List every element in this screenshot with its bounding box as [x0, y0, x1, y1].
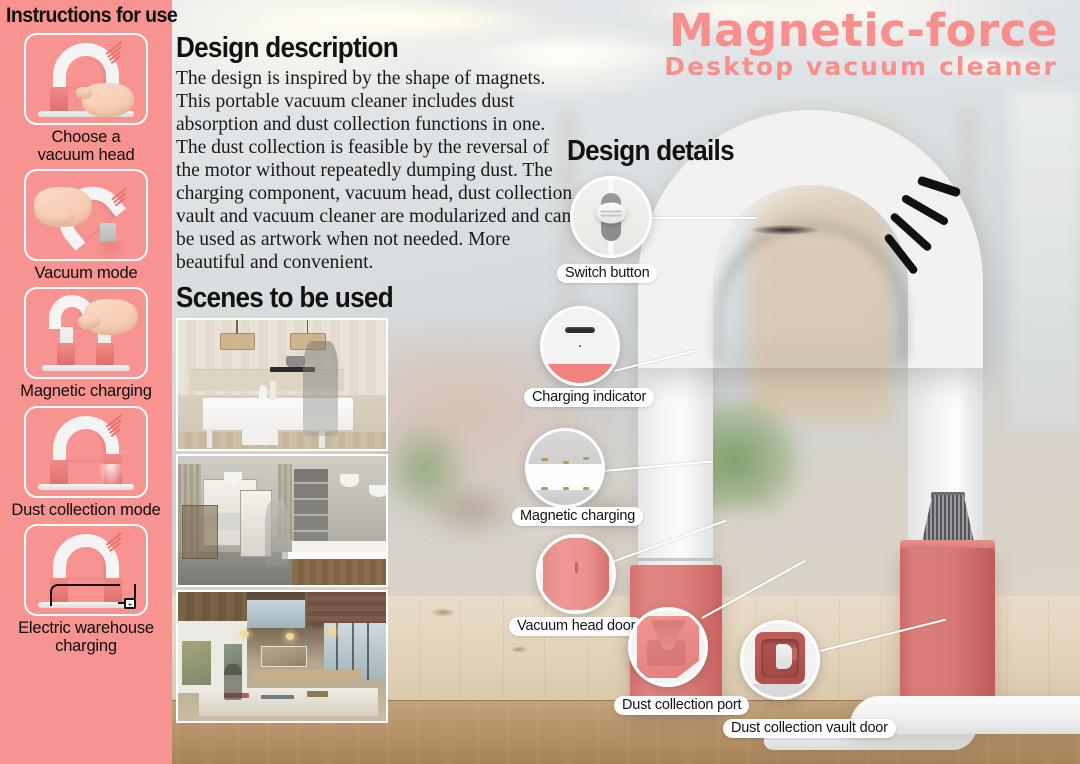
magnet-charging-icon	[24, 287, 148, 379]
presentation-board: Magnetic-force Desktop vacuum cleaner De…	[0, 0, 1080, 764]
instruction-step-dust-collection-mode[interactable]: Dust collection mode	[0, 406, 172, 522]
scene-photo-industrial-loft[interactable]	[176, 590, 388, 723]
middle-column: Design description The design is inspire…	[172, 0, 572, 726]
instruction-label: Magnetic charging	[0, 379, 172, 403]
scene-person	[224, 664, 243, 700]
scene-photo-modern-kitchen[interactable]	[176, 318, 388, 451]
charging-port-icon	[565, 327, 595, 334]
magnetic-charging-zoom	[525, 428, 605, 508]
instruction-step-magnetic-charging[interactable]: Magnetic charging	[0, 287, 172, 403]
vault-door-panel	[776, 644, 792, 669]
magnet-pin-icon	[583, 457, 590, 460]
instructions-heading: Instructions for use	[6, 2, 166, 33]
magnet-pin-icon	[541, 458, 548, 461]
hanging-bulb-icon	[286, 633, 294, 639]
instruction-step-choose-head[interactable]: Choose avacuum head	[0, 33, 172, 167]
brand-subtitle: Desktop vacuum cleaner	[664, 53, 1058, 81]
product-leg-seam	[638, 558, 713, 561]
callout-label-charging-indicator: Charging indicator	[524, 388, 654, 407]
head-door-panel	[543, 538, 608, 609]
scene-person	[303, 341, 338, 436]
instruction-label: Choose avacuum head	[0, 125, 172, 167]
instruction-label: Vacuum mode	[0, 261, 172, 285]
hanging-bulb-icon	[240, 631, 248, 637]
magnet-blow-icon	[24, 406, 148, 498]
scene-photo-art-studio[interactable]	[176, 454, 388, 587]
product-right-pink-tip	[900, 548, 995, 714]
magnet-cable-icon: +	[24, 524, 148, 616]
pendant-lamp-icon	[224, 472, 243, 485]
pendant-lamp-icon	[340, 474, 359, 487]
switch-button-zoom	[570, 176, 652, 258]
magnet-suction-icon	[24, 169, 148, 261]
magnet-hand-icon	[24, 33, 148, 125]
instructions-sidebar: Instructions for use Choose avacuum head	[0, 0, 172, 764]
instruction-label: Electric warehousecharging	[0, 616, 172, 658]
magnet-pin-icon	[563, 461, 570, 464]
switch-knob	[597, 202, 626, 223]
hanging-bulb-icon	[328, 628, 336, 634]
callout-label-dust-collection-port: Dust collection port	[614, 696, 749, 715]
artwork-icon	[261, 646, 307, 667]
vault-door-tab-icon	[792, 647, 797, 662]
instruction-step-vacuum-mode[interactable]: Vacuum mode	[0, 169, 172, 285]
scenes-heading: Scenes to be used	[176, 282, 532, 315]
charging-led-icon	[579, 345, 582, 348]
magnet-pin-icon	[541, 487, 548, 490]
indicator-pink-band	[543, 364, 617, 383]
dust-collection-port-zoom	[628, 607, 708, 687]
board-title-group: Magnetic-force Desktop vacuum cleaner	[664, 8, 1058, 80]
brand-title: Magnetic-force	[664, 8, 1058, 55]
artwork-icon	[182, 641, 211, 685]
scene-photo-list	[176, 318, 388, 723]
design-description-body: The design is inspired by the shape of m…	[176, 67, 576, 274]
vacuum-head-door-zoom	[536, 534, 616, 614]
callout-label-switch-button: Switch button	[557, 264, 657, 283]
design-details-heading: Design details	[567, 135, 734, 168]
charging-indicator-zoom	[540, 306, 620, 386]
vault-base-shadow	[743, 684, 817, 697]
dust-collection-vault-door-zoom	[740, 620, 820, 700]
design-description-heading: Design description	[176, 32, 532, 65]
head-door-latch-icon	[575, 562, 579, 572]
pendant-lamp-icon	[369, 485, 388, 498]
contact-plate-upper	[528, 431, 602, 464]
scene-person	[265, 500, 288, 567]
instruction-step-electric-warehouse-charging[interactable]: + Electric warehousecharging	[0, 524, 172, 658]
instruction-label: Dust collection mode	[0, 498, 172, 522]
contact-gap	[528, 464, 602, 491]
contact-plate-lower	[528, 490, 602, 505]
speed-line-decals-icon	[855, 178, 970, 288]
callout-label-dust-collection-vault-door: Dust collection vault door	[723, 719, 896, 738]
product-arch-groove	[750, 225, 820, 235]
easel-icon	[182, 505, 217, 559]
callout-label-vacuum-head-door: Vacuum head door	[509, 617, 643, 636]
callout-label-magnetic-charging: Magnetic charging	[512, 507, 643, 526]
pendant-lamp-icon	[220, 333, 255, 350]
